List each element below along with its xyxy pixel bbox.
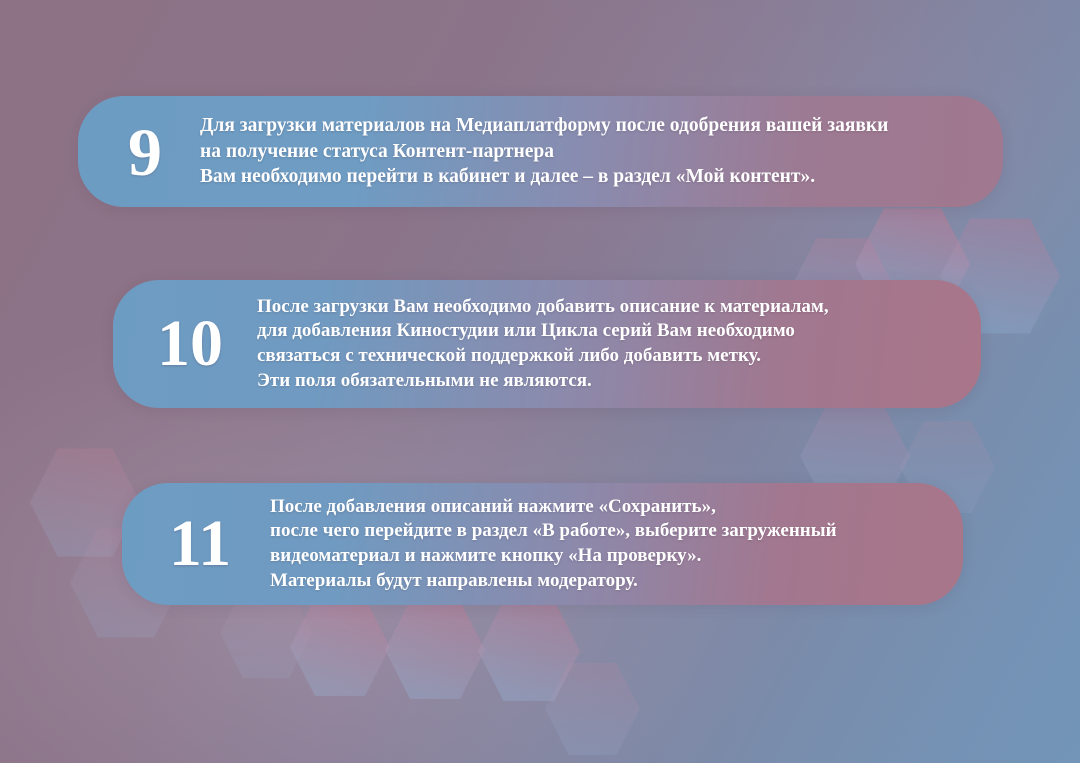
step-number-11: 11 bbox=[140, 511, 260, 577]
hex-bottom-1-icon bbox=[290, 595, 390, 699]
step-number-10: 10 bbox=[127, 311, 253, 377]
hex-bottom-4-icon bbox=[545, 660, 640, 758]
hex-bottom-3-icon bbox=[478, 598, 580, 704]
step-card-10: 10 После загрузки Вам необходимо добавит… bbox=[113, 280, 981, 408]
step-card-11: 11 После добавления описаний нажмите «Со… bbox=[122, 483, 963, 605]
step-card-9: 9 Для загрузки материалов на Медиаплатфо… bbox=[78, 96, 1003, 207]
hex-bottom-2-icon bbox=[385, 598, 485, 702]
poster-canvas: 9 Для загрузки материалов на Медиаплатфо… bbox=[0, 0, 1080, 763]
step-text-11: После добавления описаний нажмите «Сохра… bbox=[270, 495, 837, 594]
step-text-10: После загрузки Вам необходимо добавить о… bbox=[257, 295, 829, 394]
step-number-9: 9 bbox=[96, 118, 194, 186]
step-text-9: Для загрузки материалов на Медиаплатформ… bbox=[200, 113, 888, 189]
